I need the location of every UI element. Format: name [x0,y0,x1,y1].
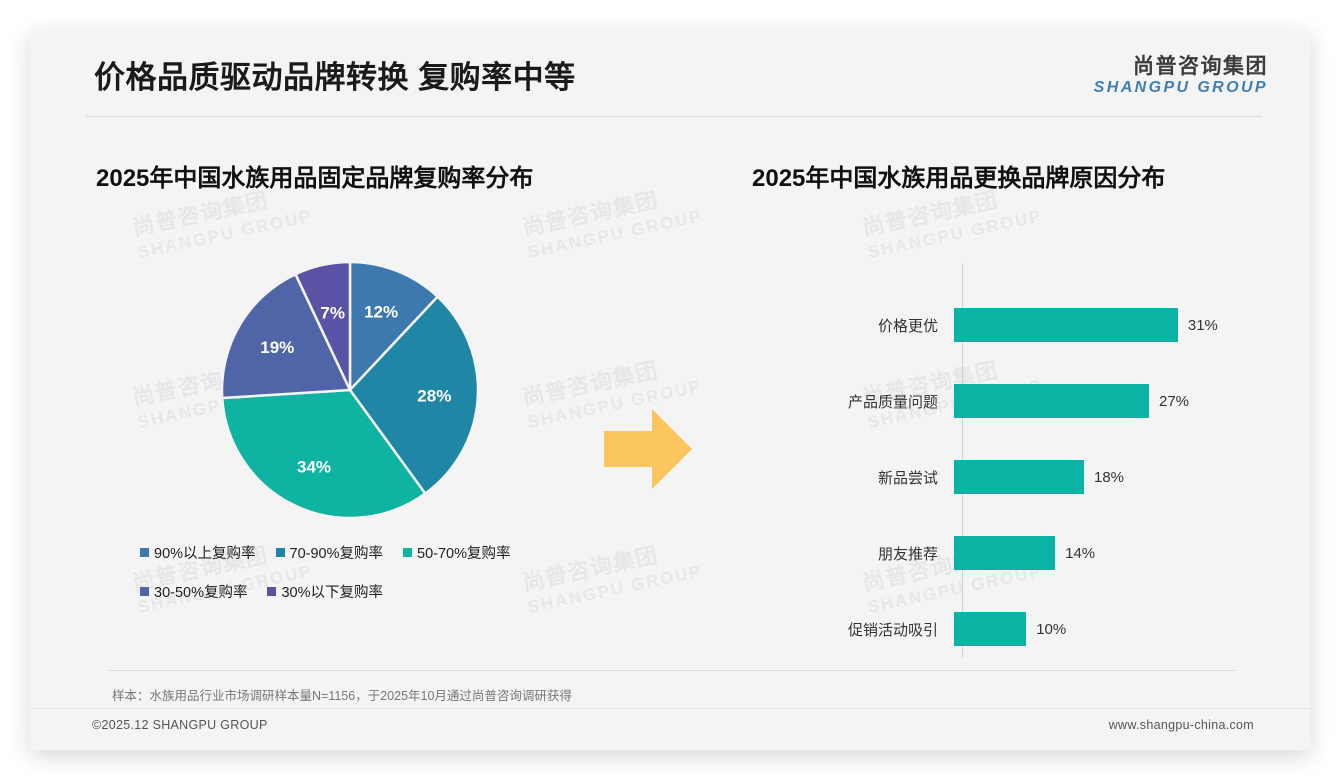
right-chart-title: 2025年中国水族用品更换品牌原因分布 [752,158,1165,193]
legend-item-2[interactable]: 50-70%复购率 [403,542,510,563]
pie-legend: 90%以上复购率 70-90%复购率 50-70%复购率 30-50%复购率 3… [140,542,610,620]
legend-label: 30%以下复购率 [281,581,383,602]
slide: 价格品质驱动品牌转换 复购率中等 尚普咨询集团 SHANGPU GROUP 尚普… [30,30,1310,750]
bar-category-label: 新品尝试 [730,467,954,488]
bar-fill[interactable] [954,612,1026,646]
legend-label: 50-70%复购率 [417,542,510,563]
footer-divider [30,708,1310,709]
header-divider [86,116,1262,117]
bar-category-label: 促销活动吸引 [730,619,954,640]
pie-slice-value: 28% [417,386,451,405]
bar-value-label: 18% [1094,469,1124,486]
arrow-svg [600,405,696,493]
bar-row[interactable]: 产品质量问题27% [730,384,1270,418]
bar-track: 14% [954,536,1270,570]
watermark-en: SHANGPU GROUP [136,205,315,263]
legend-swatch-icon [140,587,149,596]
legend-label: 90%以上复购率 [154,542,256,563]
legend-swatch-icon [140,548,149,557]
footnote-divider [108,670,1236,671]
bar-track: 18% [954,460,1270,494]
watermark-en: SHANGPU GROUP [866,205,1045,263]
legend-item-4[interactable]: 30%以下复购率 [267,581,383,602]
bar-row[interactable]: 价格更优31% [730,308,1270,342]
sample-footnote: 样本：水族用品行业市场调研样本量N=1156，于2025年10月通过尚普咨询调研… [112,685,572,704]
bar-row[interactable]: 朋友推荐14% [730,536,1270,570]
company-logo: 尚普咨询集团 SHANGPU GROUP [1094,56,1268,96]
pie-slice-value: 19% [260,338,294,357]
watermark-cn: 尚普咨询集团 [520,357,660,410]
legend-swatch-icon [276,548,285,557]
legend-item-3[interactable]: 30-50%复购率 [140,581,247,602]
pie-slice-value: 34% [297,457,331,476]
bar-track: 27% [954,384,1270,418]
legend-swatch-icon [267,587,276,596]
watermark-cn: 尚普咨询集团 [860,187,1000,240]
bar-fill[interactable] [954,536,1055,570]
right-arrow-icon [600,405,696,498]
legend-swatch-icon [403,548,412,557]
bar-category-label: 朋友推荐 [730,543,954,564]
bar-row[interactable]: 新品尝试18% [730,460,1270,494]
legend-row-1: 90%以上复购率 70-90%复购率 50-70%复购率 [140,542,610,563]
bar-track: 10% [954,612,1270,646]
watermark-en: SHANGPU GROUP [526,205,705,263]
bar-track: 31% [954,308,1270,342]
repurchase-rate-pie-chart: 12%28%34%19%7% [200,255,500,525]
left-chart-title: 2025年中国水族用品固定品牌复购率分布 [96,158,533,193]
brand-switch-reason-bar-chart: 价格更优31%产品质量问题27%新品尝试18%朋友推荐14%促销活动吸引10% [730,255,1270,690]
pie-svg: 12%28%34%19%7% [200,255,500,525]
legend-label: 30-50%复购率 [154,581,247,602]
bar-category-label: 价格更优 [730,315,954,336]
pie-slice-value: 12% [364,302,398,321]
legend-item-1[interactable]: 70-90%复购率 [276,542,383,563]
watermark: 尚普咨询集团SHANGPU GROUP [520,178,704,263]
footer-website[interactable]: www.shangpu-china.com [1109,718,1254,732]
bar-fill[interactable] [954,460,1084,494]
bar-value-label: 31% [1188,317,1218,334]
pie-slice-value: 7% [320,304,345,323]
bar-category-label: 产品质量问题 [730,391,954,412]
page-title: 价格品质驱动品牌转换 复购率中等 [94,52,576,97]
slide-header: 价格品质驱动品牌转换 复购率中等 尚普咨询集团 SHANGPU GROUP [30,30,1310,112]
bar-row[interactable]: 促销活动吸引10% [730,612,1270,646]
legend-row-2: 30-50%复购率 30%以下复购率 [140,581,610,602]
bar-fill[interactable] [954,308,1178,342]
bar-value-label: 14% [1065,545,1095,562]
logo-chinese-text: 尚普咨询集团 [1094,56,1268,79]
bar-fill[interactable] [954,384,1149,418]
legend-label: 70-90%复购率 [290,542,383,563]
watermark-cn: 尚普咨询集团 [520,187,660,240]
bar-value-label: 27% [1159,393,1189,410]
footer-copyright: ©2025.12 SHANGPU GROUP [92,718,268,732]
watermark-cn: 尚普咨询集团 [130,187,270,240]
bar-value-label: 10% [1036,621,1066,638]
legend-item-0[interactable]: 90%以上复购率 [140,542,256,563]
logo-english-text: SHANGPU GROUP [1094,79,1268,96]
